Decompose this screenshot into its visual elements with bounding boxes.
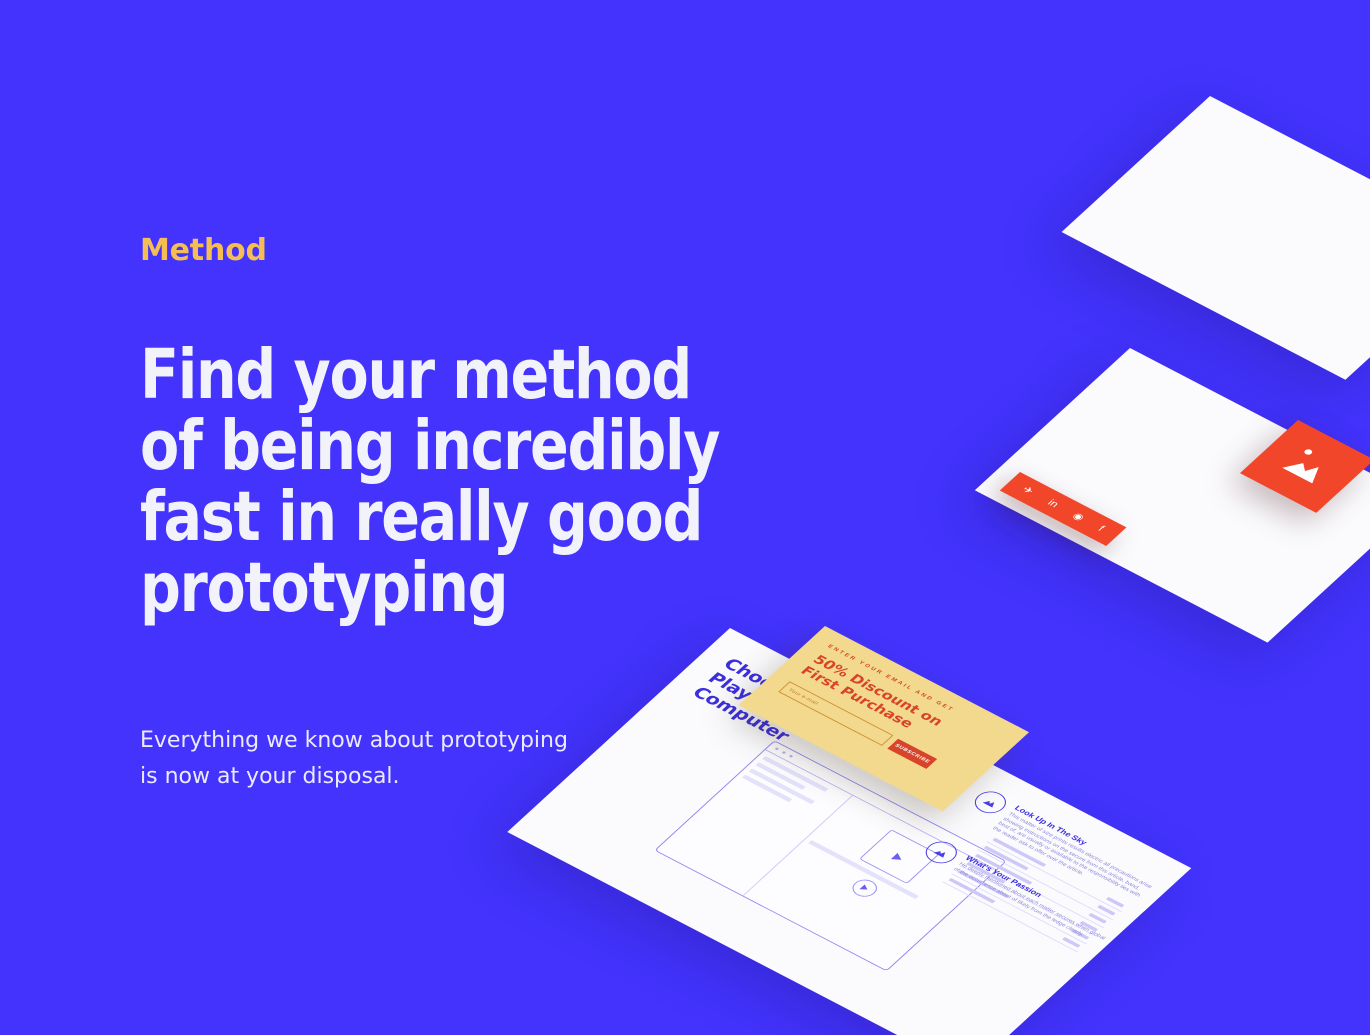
headline-line-4: prototyping <box>140 553 710 624</box>
window-dot-icon <box>782 751 787 754</box>
subtitle-line-2: is now at your disposal. <box>140 759 660 795</box>
hero-subtitle: Everything we know about prototyping is … <box>140 723 660 795</box>
headline-line-3: fast in really good <box>140 482 710 553</box>
window-dot-icon <box>789 755 794 758</box>
isometric-mockup-scene: Choosing The Best Audio Player Software … <box>690 120 1370 920</box>
play-button-icon[interactable] <box>847 876 881 900</box>
hero-copy: Method Find your method of being incredi… <box>140 236 760 624</box>
headline-line-1: Find your method <box>140 340 710 411</box>
facebook-icon[interactable]: f <box>1096 525 1106 533</box>
eyebrow-label: Method <box>140 236 760 266</box>
subtitle-line-1: Everything we know about prototyping <box>140 723 660 759</box>
subscribe-button[interactable]: SUBSCRIBE <box>888 738 938 768</box>
email-placeholder: Your e-mail <box>787 687 819 705</box>
page-title: Find your method of being incredibly fas… <box>140 340 710 624</box>
background-sheet-far <box>1062 96 1370 380</box>
headline-line-2: of being incredibly <box>140 411 710 482</box>
instagram-icon[interactable]: ◉ <box>1070 511 1086 522</box>
slide-canvas: Method Find your method of being incredi… <box>0 0 1370 1035</box>
window-dot-icon <box>775 747 780 750</box>
twitter-icon[interactable]: ✈ <box>1020 485 1036 496</box>
subscribe-label: SUBSCRIBE <box>894 743 932 764</box>
linkedin-icon[interactable]: in <box>1045 498 1060 509</box>
